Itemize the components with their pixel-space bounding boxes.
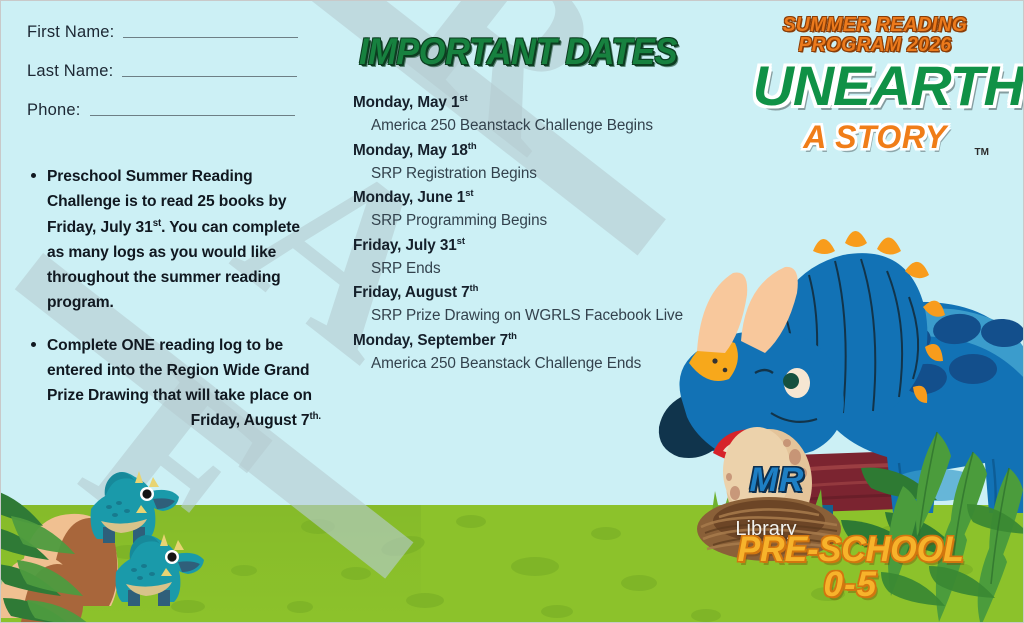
important-dates-title: IMPORTANT DATES	[359, 31, 660, 73]
logo-line-1: SUMMER READING	[760, 15, 990, 35]
baby-dinosaur-2	[106, 524, 221, 614]
date-day: Friday, July 31	[353, 237, 457, 254]
rule-2-tail-text: Friday, August 7	[191, 412, 310, 429]
date-day: Monday, June 1	[353, 189, 465, 206]
rule-2-tail: Friday, August 7th.	[47, 408, 321, 433]
date-sup: st	[465, 188, 473, 199]
first-name-input-line[interactable]	[123, 37, 298, 38]
date-heading: Monday, June 1st	[353, 186, 683, 209]
first-name-field-row[interactable]: First Name:	[27, 23, 341, 42]
date-entry: Monday, June 1st SRP Programming Begins	[353, 186, 683, 233]
date-heading: Friday, August 7th	[353, 281, 683, 304]
poster-canvas: DRAFT	[0, 0, 1024, 623]
rule-bullet-2: Complete ONE reading log to be entered i…	[31, 333, 321, 434]
date-entry: Friday, August 7th SRP Prize Drawing on …	[353, 281, 683, 328]
date-entry: Monday, May 18th SRP Registration Begins	[353, 139, 683, 186]
rules-list: Preschool Summer Reading Challenge is to…	[1, 164, 341, 434]
date-detail: SRP Ends	[353, 257, 683, 280]
date-sup: th	[508, 330, 517, 341]
date-heading: Monday, September 7th	[353, 329, 683, 352]
first-name-label: First Name:	[27, 23, 114, 42]
audience-label: PRE-SCHOOL 0-5	[734, 532, 967, 604]
date-sup: st	[459, 93, 467, 104]
audience-line-2: 0-5	[734, 567, 967, 604]
date-entry: Monday, May 1st America 250 Beanstack Ch…	[353, 91, 683, 138]
egg-initials: MR	[737, 461, 817, 500]
rule-2-text-a: Complete ONE reading log to be entered i…	[47, 337, 312, 405]
date-heading: Friday, July 31st	[353, 234, 683, 257]
srp-logo: SUMMER READING PROGRAM 2026 UNEARTH A ST…	[755, 15, 995, 144]
date-sup: th	[468, 140, 477, 151]
logo-a-story-text: A STORY	[755, 119, 995, 156]
left-column: First Name: Last Name: Phone: Preschool …	[1, 1, 341, 521]
date-day: Monday, September 7	[353, 332, 508, 349]
logo-wordmark: UNEARTH A STORY TM	[755, 58, 995, 144]
date-heading: Monday, May 18th	[353, 139, 683, 162]
phone-input-line[interactable]	[90, 115, 295, 116]
rule-1-sup: st	[153, 217, 161, 228]
last-name-field-row[interactable]: Last Name:	[27, 62, 341, 81]
logo-line-2: PROGRAM 2026	[760, 35, 990, 55]
audience-line-1: PRE-SCHOOL	[737, 532, 963, 567]
date-detail: America 250 Beanstack Challenge Begins	[353, 114, 683, 137]
date-entry: Friday, July 31st SRP Ends	[353, 234, 683, 281]
date-entry: Monday, September 7th America 250 Beanst…	[353, 329, 683, 376]
date-heading: Monday, May 1st	[353, 91, 683, 114]
date-day: Friday, August 7	[353, 284, 470, 301]
date-day: Monday, May 1	[353, 94, 459, 111]
date-detail: SRP Programming Begins	[353, 209, 683, 232]
date-detail: America 250 Beanstack Challenge Ends	[353, 352, 683, 375]
date-day: Monday, May 18	[353, 142, 468, 159]
date-sup: th	[470, 283, 479, 294]
date-detail: SRP Prize Drawing on WGRLS Facebook Live	[353, 304, 683, 327]
phone-label: Phone:	[27, 101, 81, 120]
important-dates-column: IMPORTANT DATES Monday, May 1st America …	[353, 1, 683, 376]
last-name-input-line[interactable]	[122, 76, 297, 77]
rule-bullet-1: Preschool Summer Reading Challenge is to…	[31, 164, 321, 316]
last-name-label: Last Name:	[27, 62, 113, 81]
rule-2-sup: th.	[310, 411, 322, 422]
date-sup: st	[457, 235, 465, 246]
logo-unearth-text: UNEARTH	[753, 58, 998, 114]
trademark-icon: TM	[975, 147, 989, 158]
date-detail: SRP Registration Begins	[353, 162, 683, 185]
phone-field-row[interactable]: Phone:	[27, 101, 341, 120]
